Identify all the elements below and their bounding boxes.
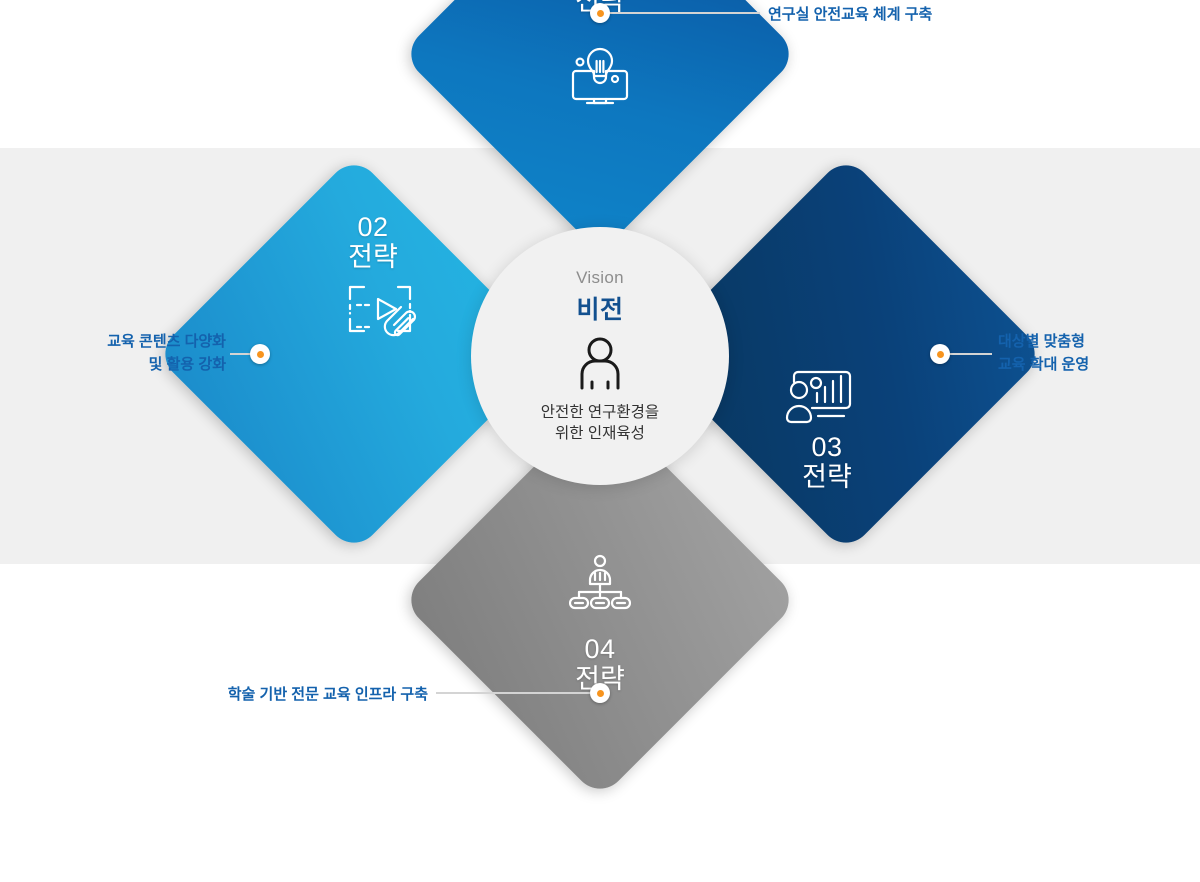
callout-right-line2: 교육 확대 운영	[998, 354, 1188, 377]
monitor-lightbulb-icon	[567, 45, 633, 114]
strategy-03-label: 전략	[802, 461, 852, 495]
connector-dot-right	[930, 344, 950, 364]
vision-center-circle[interactable]: Vision 비전 안전한 연구환경을 위한 인재육성	[471, 227, 729, 485]
connector-dot-core-left	[257, 351, 264, 358]
video-attachment-icon	[342, 275, 420, 346]
connector-dot-core-right	[937, 351, 944, 358]
vision-title-en: Vision	[576, 268, 624, 288]
strategy-01-content: 01 전략	[459, 0, 741, 195]
callout-bottom-line1: 학술 기반 전문 교육 인프라 구축	[160, 684, 428, 707]
strategy-02-number: 02	[357, 213, 388, 241]
vision-title-ko: 비전	[576, 290, 623, 326]
callout-label-right: 대상별 맞춤형 교육 확대 운영	[998, 331, 1188, 376]
vision-description-line2: 위한 인재육성	[541, 424, 659, 445]
connector-dot-core-bottom	[597, 690, 604, 697]
vision-description-line1: 안전한 연구환경을	[541, 403, 659, 424]
callout-label-top: 연구실 안전교육 체계 구축	[768, 4, 932, 27]
callout-top-line1: 연구실 안전교육 체계 구축	[768, 4, 932, 27]
connector-dot-core-top	[597, 10, 604, 17]
strategy-02-label: 전략	[348, 241, 398, 275]
callout-label-bottom: 학술 기반 전문 교육 인프라 구축	[160, 684, 428, 707]
connector-line-right	[948, 353, 992, 355]
strategy-04-number: 04	[584, 635, 615, 663]
callout-right-line1: 대상별 맞춤형	[998, 331, 1188, 354]
org-chart-icon	[569, 554, 631, 617]
connector-dot-bottom	[590, 683, 610, 703]
strategy-02-text: 02 전략	[348, 213, 398, 275]
strategy-03-number: 03	[811, 433, 842, 461]
presentation-chart-person-icon	[782, 364, 856, 433]
strategy-03-text: 03 전략	[802, 433, 852, 495]
connector-line-top	[608, 12, 760, 14]
callout-left-line2: 및 활용 강화	[20, 354, 226, 377]
connector-line-bottom	[436, 692, 590, 694]
person-icon	[574, 336, 626, 399]
callout-left-line1: 교육 콘텐츠 다양화	[20, 331, 226, 354]
connector-dot-top	[590, 3, 610, 23]
vision-description: 안전한 연구환경을 위한 인재육성	[541, 403, 659, 445]
diagram-canvas: 연구실 안전교육 체계 구축 교육 콘텐츠 다양화 및 활용 강화 대상별 맞춤…	[0, 0, 1200, 708]
callout-label-left: 교육 콘텐츠 다양화 및 활용 강화	[20, 331, 226, 376]
connector-dot-left	[250, 344, 270, 364]
